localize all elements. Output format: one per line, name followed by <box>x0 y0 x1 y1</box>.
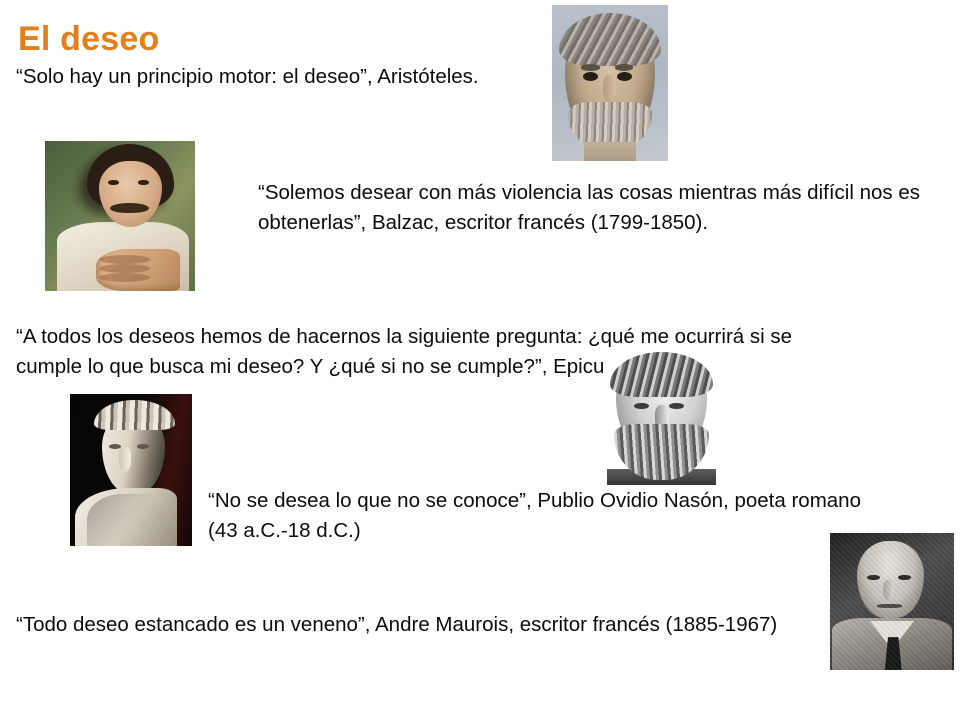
portrait-ovidio <box>70 394 192 546</box>
portrait-mustache <box>110 203 149 214</box>
quote-balzac: “Solemos desear con más violencia las co… <box>258 178 948 239</box>
portrait-ovidio-art <box>70 394 192 546</box>
portrait-epicuro <box>605 352 718 485</box>
portrait-face <box>99 161 162 227</box>
portrait-finger <box>99 255 150 264</box>
portrait-eye-right <box>138 180 149 185</box>
bust-eye-left <box>634 403 649 410</box>
bust-nose <box>119 447 131 471</box>
bust-eye-right <box>669 403 684 410</box>
portrait-finger <box>99 273 150 282</box>
portrait-finger <box>99 264 150 273</box>
page-title: El deseo <box>18 22 159 58</box>
bust-neck <box>584 142 635 161</box>
portrait-balzac-art <box>45 141 195 291</box>
bust-brow-left <box>581 64 600 70</box>
quote-epicuro: “A todos los deseos hemos de hacernos la… <box>16 322 846 383</box>
portrait-eye-left <box>108 180 119 185</box>
portrait-balzac <box>45 141 195 291</box>
quote-ovidio: “No se desea lo que no se conoce”, Publi… <box>208 486 868 547</box>
photo-grain-overlay <box>830 533 954 670</box>
presentation-slide: El deseo “Solo hay un principio motor: e… <box>0 0 960 720</box>
quote-aristoteles: “Solo hay un principio motor: el deseo”,… <box>16 62 576 92</box>
bust-brow-right <box>615 64 634 70</box>
bust-toga-fold <box>87 494 158 546</box>
portrait-maurois-art <box>830 533 954 670</box>
portrait-aristoteles-art <box>552 5 668 161</box>
bust-hair-shape <box>559 13 661 66</box>
portrait-maurois <box>830 533 954 670</box>
bust-hair-shape <box>610 352 714 397</box>
portrait-epicuro-art <box>605 352 718 485</box>
quote-maurois: “Todo deseo estancado es un veneno”, And… <box>16 610 846 640</box>
laurel-wreath <box>94 400 175 430</box>
portrait-aristoteles <box>552 5 668 161</box>
bust-nose <box>603 75 616 103</box>
